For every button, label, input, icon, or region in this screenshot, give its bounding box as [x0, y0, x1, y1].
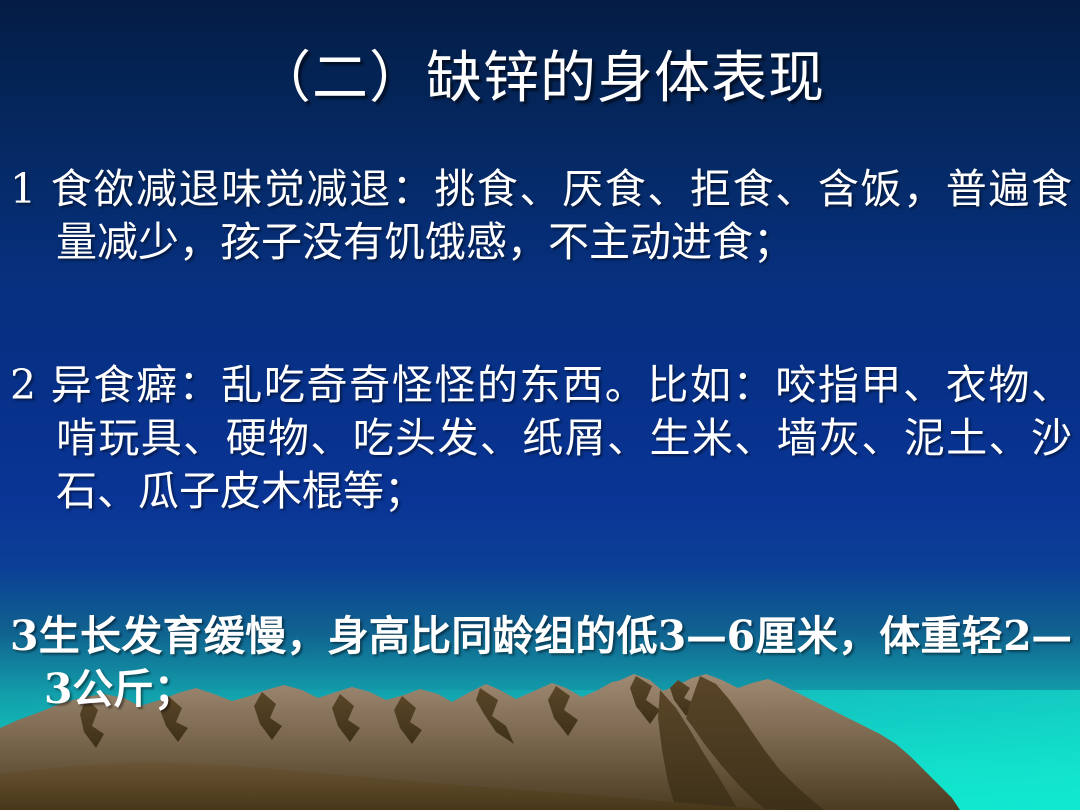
body-paragraph-2: 2 异食癖：乱吃奇奇怪怪的东西。比如：咬指甲、衣物、啃玩具、硬物、吃头发、纸屑、…	[10, 359, 1072, 518]
slide-title: （二）缺锌的身体表现	[0, 48, 1080, 111]
body-paragraph-1: 1 食欲减退味觉减退：挑食、厌食、拒食、含饭，普遍食量减少，孩子没有饥饿感，不主…	[10, 163, 1072, 269]
presentation-slide: （二）缺锌的身体表现 1 食欲减退味觉减退：挑食、厌食、拒食、含饭，普遍食量减少…	[0, 0, 1080, 810]
body-paragraph-3: 3生长发育缓慢，身高比同龄组的低3—6厘米，体重轻2—3公斤；	[10, 610, 1072, 716]
slide-body: 1 食欲减退味觉减退：挑食、厌食、拒食、含饭，普遍食量减少，孩子没有饥饿感，不主…	[10, 163, 1072, 716]
